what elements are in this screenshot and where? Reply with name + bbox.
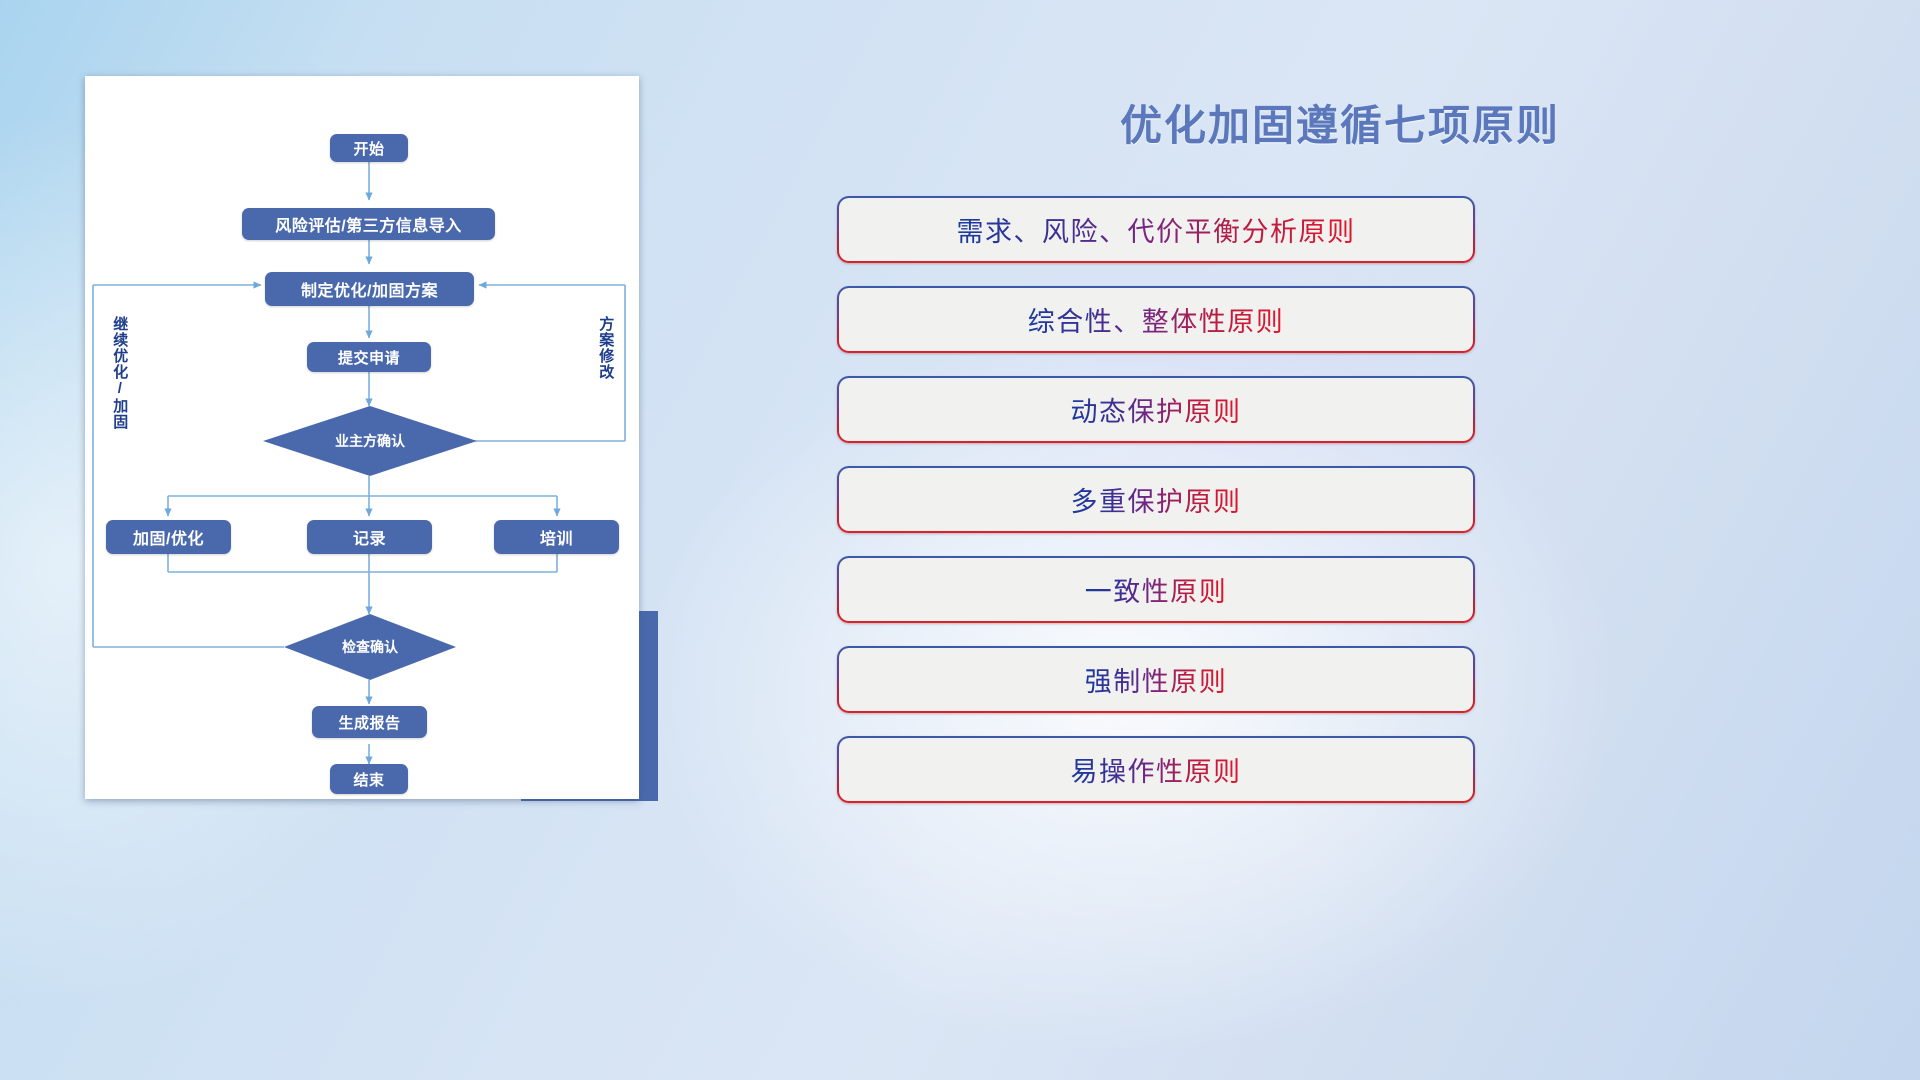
principle-label: 一致性原则	[1085, 570, 1228, 609]
principle-label: 动态保护原则	[1071, 390, 1242, 429]
principle-box-inner: 强制性原则	[839, 648, 1473, 711]
principle-box[interactable]: 动态保护原则	[837, 376, 1475, 443]
flow-node-label: 生成报告	[338, 712, 400, 733]
flow-node-training[interactable]: 培训	[494, 520, 619, 554]
principle-label: 综合性、整体性原则	[1028, 300, 1285, 339]
edge-label-plan-revision: 方案修改	[598, 316, 613, 412]
flow-node-label: 加固/优化	[133, 525, 204, 549]
list-item[interactable]: 综合性、整体性原则	[837, 286, 1475, 376]
flow-node-generate-report[interactable]: 生成报告	[312, 706, 427, 738]
principle-box-inner: 多重保护原则	[839, 468, 1473, 531]
list-item[interactable]: 强制性原则	[837, 646, 1475, 736]
principle-box-inner: 一致性原则	[839, 558, 1473, 621]
flow-node-label: 培训	[540, 525, 573, 549]
principle-box[interactable]: 易操作性原则	[837, 736, 1475, 803]
principle-label: 多重保护原则	[1071, 480, 1242, 519]
flow-node-label: 结束	[353, 769, 384, 790]
principles-panel: 优化加固遵循七项原则 需求、风险、代价平衡分析原则 综合性、整体性原则 动态保护…	[760, 0, 1920, 1080]
principle-label: 强制性原则	[1085, 660, 1228, 699]
flow-node-record[interactable]: 记录	[307, 520, 432, 554]
flow-node-reinforce-optimize[interactable]: 加固/优化	[106, 520, 231, 554]
principle-box[interactable]: 一致性原则	[837, 556, 1475, 623]
flow-node-label: 业主方确认	[335, 431, 405, 451]
principle-label: 需求、风险、代价平衡分析原则	[957, 210, 1356, 249]
principle-box[interactable]: 综合性、整体性原则	[837, 286, 1475, 353]
flow-node-label: 开始	[353, 138, 384, 159]
principles-list: 需求、风险、代价平衡分析原则 综合性、整体性原则 动态保护原则 多重保护原则	[837, 196, 1475, 826]
flow-node-label: 检查确认	[342, 637, 398, 657]
flow-node-label: 提交申请	[338, 347, 400, 368]
list-item[interactable]: 易操作性原则	[837, 736, 1475, 826]
edge-label-continue-optimize: 继续优化/加固	[112, 316, 127, 446]
principle-box-inner: 易操作性原则	[839, 738, 1473, 801]
flow-node-plan[interactable]: 制定优化/加固方案	[265, 272, 474, 306]
page-title: 优化加固遵循七项原则	[760, 92, 1920, 153]
principle-label: 易操作性原则	[1071, 750, 1242, 789]
principle-box-inner: 需求、风险、代价平衡分析原则	[839, 198, 1473, 261]
principle-box-inner: 动态保护原则	[839, 378, 1473, 441]
principle-box[interactable]: 强制性原则	[837, 646, 1475, 713]
flow-node-label: 制定优化/加固方案	[301, 277, 438, 301]
flow-node-end[interactable]: 结束	[330, 764, 408, 794]
list-item[interactable]: 需求、风险、代价平衡分析原则	[837, 196, 1475, 286]
list-item[interactable]: 多重保护原则	[837, 466, 1475, 556]
principle-box[interactable]: 需求、风险、代价平衡分析原则	[837, 196, 1475, 263]
flow-node-start[interactable]: 开始	[330, 134, 408, 162]
flow-node-submit-application[interactable]: 提交申请	[307, 342, 431, 372]
flow-node-label: 风险评估/第三方信息导入	[275, 212, 461, 236]
flow-node-risk-assessment[interactable]: 风险评估/第三方信息导入	[242, 208, 495, 240]
list-item[interactable]: 动态保护原则	[837, 376, 1475, 466]
principle-box-inner: 综合性、整体性原则	[839, 288, 1473, 351]
flowchart-card: 开始 风险评估/第三方信息导入 制定优化/加固方案 提交申请 业主方确认 加固/…	[85, 76, 639, 799]
flow-node-label: 记录	[353, 525, 386, 549]
list-item[interactable]: 一致性原则	[837, 556, 1475, 646]
principle-box[interactable]: 多重保护原则	[837, 466, 1475, 533]
